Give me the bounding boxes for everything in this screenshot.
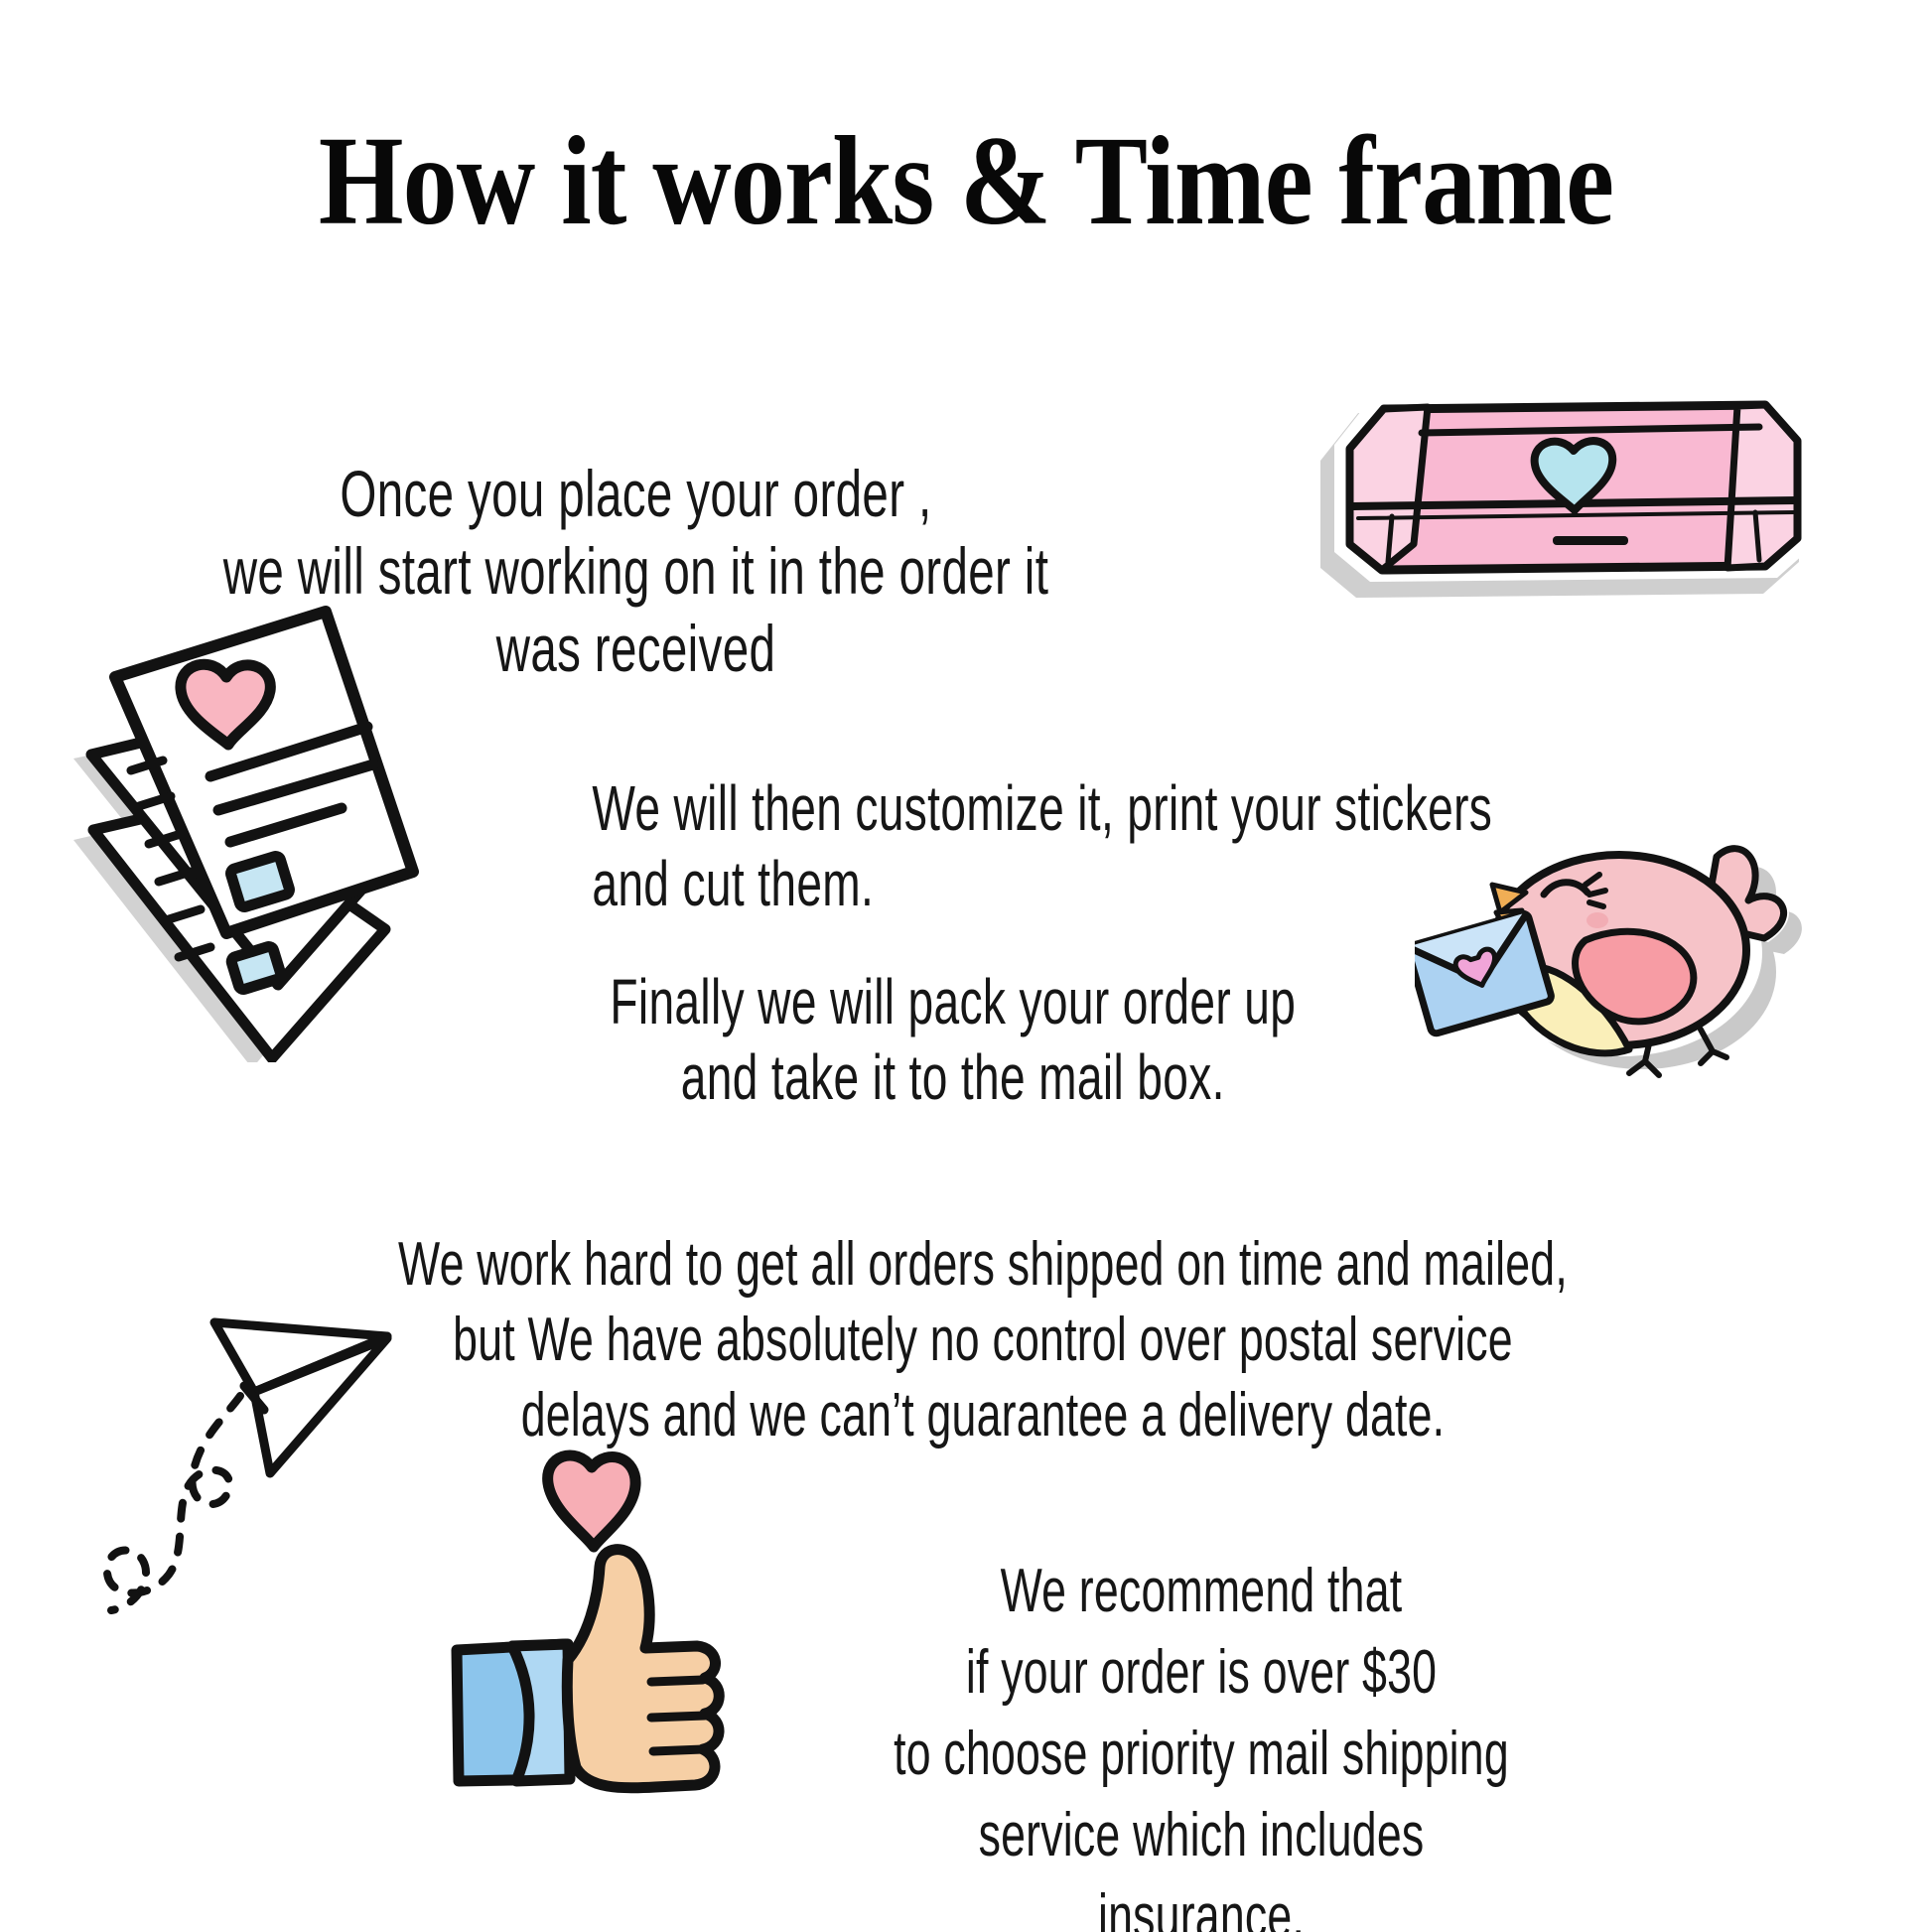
paragraph-order-placed-text: Once you place your order , we will star…: [222, 455, 1048, 687]
thumbs-up-icon: [417, 1440, 755, 1817]
page-title: How it works & Time frame: [135, 117, 1797, 244]
infographic-canvas: How it works & Time frame: [0, 0, 1932, 1932]
cutting-machine-icon: [1311, 357, 1827, 606]
paragraph-recommendation-text: We recommend that if your order is over …: [880, 1551, 1523, 1932]
paragraph-finally-pack: Finally we will pack your order up and t…: [397, 889, 1509, 1115]
paragraph-recommendation: We recommend that if your order is over …: [755, 1469, 1648, 1932]
paragraph-order-placed: Once you place your order , we will star…: [60, 377, 1211, 687]
paragraph-customize: We will then customize it, print your st…: [417, 695, 1727, 921]
paragraph-finally-pack-text: Finally we will pack your order up and t…: [611, 964, 1297, 1115]
paragraph-work-hard-text: We work hard to get all orders shipped o…: [382, 1227, 1584, 1453]
paragraph-work-hard-disclaimer: We work hard to get all orders shipped o…: [149, 1152, 1817, 1453]
